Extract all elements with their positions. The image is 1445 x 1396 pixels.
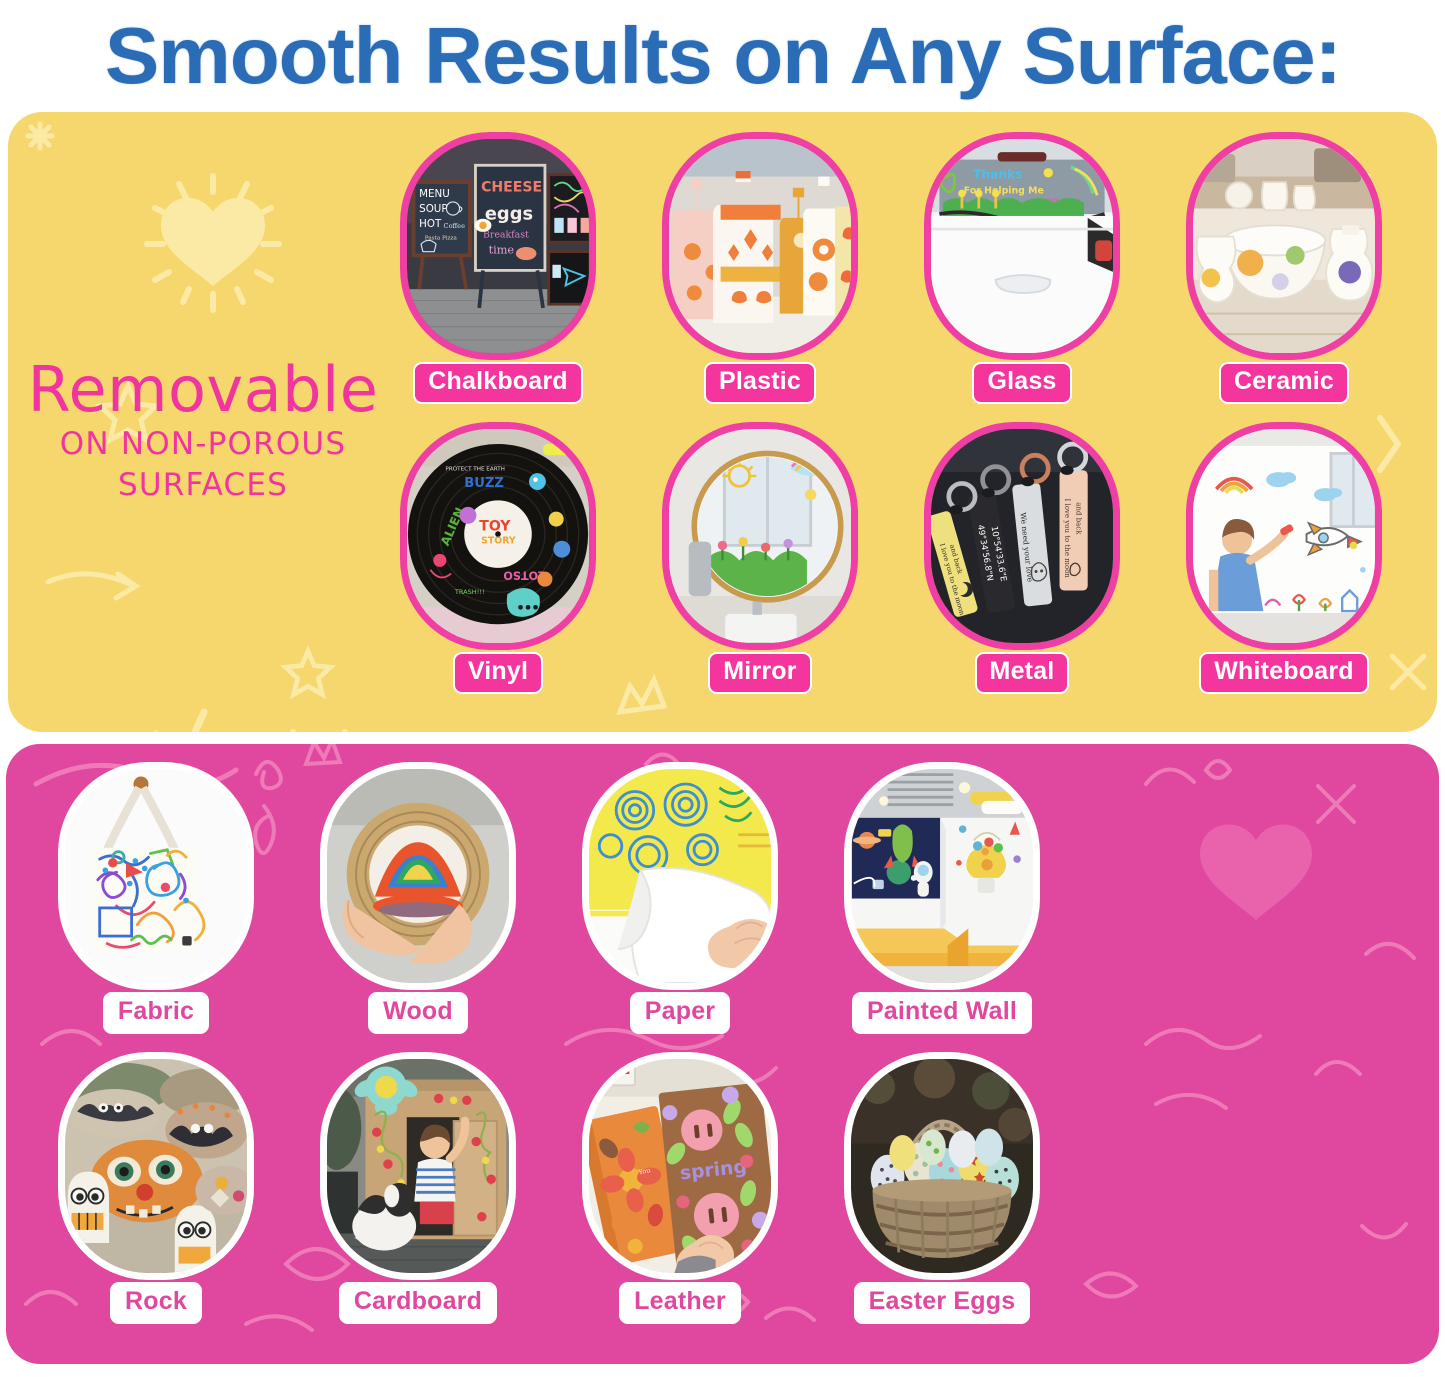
svg-text:Thanks: Thanks xyxy=(973,167,1022,181)
removable-heading-block: Removable ON NON-POROUS SURFACES xyxy=(8,358,398,503)
surface-label-eastereggs: Easter Eggs xyxy=(854,1282,1031,1324)
scene-glass: Thanks For Helping Me GROW xyxy=(931,139,1113,353)
removable-subheading-line1: ON NON-POROUS xyxy=(8,427,398,462)
svg-text:Breakfast: Breakfast xyxy=(483,230,529,241)
thumb-wrap-cardboard xyxy=(314,1046,522,1286)
svg-text:time: time xyxy=(489,244,515,257)
svg-text:MENU: MENU xyxy=(419,188,450,200)
thumb-fabric xyxy=(58,762,254,990)
thumb-leather: You spring xyxy=(582,1052,778,1280)
removable-grid: MENU SOUP HOT Coffee Pasta Pizza xyxy=(394,126,1388,704)
scene-paintedwall xyxy=(851,769,1033,983)
surface-card-ceramic[interactable]: Ceramic xyxy=(1180,126,1388,412)
thumb-cardboard xyxy=(320,1052,516,1280)
surface-label-fabric: Fabric xyxy=(103,992,209,1034)
thumb-wrap-rock xyxy=(52,1046,260,1286)
scene-mirror xyxy=(669,429,851,643)
surface-card-metal[interactable]: I love you to the moon and back 49°34'56… xyxy=(918,416,1126,702)
scene-whiteboard xyxy=(1193,429,1375,643)
surface-card-eastereggs[interactable]: Easter Eggs xyxy=(838,1046,1046,1332)
thumb-wrap-paintedwall xyxy=(838,756,1046,996)
surface-label-vinyl: Vinyl xyxy=(453,652,543,694)
surface-card-mirror[interactable]: Mirror xyxy=(656,416,864,702)
surface-card-leather[interactable]: You spring xyxy=(576,1046,784,1332)
thumb-chalkboard: MENU SOUP HOT Coffee Pasta Pizza xyxy=(400,132,596,360)
section-removable: Removable ON NON-POROUS SURFACES xyxy=(8,112,1437,732)
svg-text:BUZZ: BUZZ xyxy=(464,476,504,491)
surface-card-vinyl[interactable]: TOY STORY BUZZ ALIEN LOTSO TRASH!!! PROT… xyxy=(394,416,602,702)
thumb-wrap-wood xyxy=(314,756,522,996)
surface-card-paper[interactable]: Paper xyxy=(576,756,784,1042)
surface-label-wood: Wood xyxy=(368,992,468,1034)
surface-label-chalkboard: Chalkboard xyxy=(413,362,583,404)
surface-label-rock: Rock xyxy=(110,1282,202,1324)
thumb-eastereggs xyxy=(844,1052,1040,1280)
surface-label-ceramic: Ceramic xyxy=(1219,362,1349,404)
scene-fabric xyxy=(65,769,247,983)
surface-card-whiteboard[interactable]: Whiteboard xyxy=(1180,416,1388,702)
thumb-mirror xyxy=(662,422,858,650)
svg-text:TRASH!!!: TRASH!!! xyxy=(454,588,485,596)
thumb-glass: Thanks For Helping Me GROW xyxy=(924,132,1120,360)
scene-ceramic xyxy=(1193,139,1375,353)
surface-label-plastic: Plastic xyxy=(704,362,816,404)
thumb-wrap-vinyl: TOY STORY BUZZ ALIEN LOTSO TRASH!!! PROT… xyxy=(394,416,602,656)
scene-rock xyxy=(65,1059,247,1273)
surface-label-whiteboard: Whiteboard xyxy=(1199,652,1369,694)
svg-text:HOT: HOT xyxy=(419,218,442,230)
thumb-wrap-plastic xyxy=(656,126,864,366)
section-permanent: Permanent ON POROUS SURFACES xyxy=(6,744,1439,1364)
svg-text:SOUP: SOUP xyxy=(419,203,447,215)
surface-card-rock[interactable]: Rock xyxy=(52,1046,260,1332)
scene-wood xyxy=(327,769,509,983)
svg-text:TOY: TOY xyxy=(479,518,511,534)
surface-label-glass: Glass xyxy=(972,362,1071,404)
thumb-wrap-chalkboard: MENU SOUP HOT Coffee Pasta Pizza xyxy=(394,126,602,366)
scene-plastic xyxy=(669,139,851,353)
thumb-ceramic xyxy=(1186,132,1382,360)
thumb-wood xyxy=(320,762,516,990)
surface-card-fabric[interactable]: Fabric xyxy=(52,756,260,1042)
surface-label-metal: Metal xyxy=(975,652,1070,694)
thumb-vinyl: TOY STORY BUZZ ALIEN LOTSO TRASH!!! PROT… xyxy=(400,422,596,650)
thumb-wrap-mirror xyxy=(656,416,864,656)
removable-subheading-line2: SURFACES xyxy=(8,468,398,503)
surface-card-plastic[interactable]: Plastic xyxy=(656,126,864,412)
thumb-whiteboard xyxy=(1186,422,1382,650)
svg-text:PROTECT THE EARTH: PROTECT THE EARTH xyxy=(445,466,504,472)
surface-card-wood[interactable]: Wood xyxy=(314,756,522,1042)
surface-card-glass[interactable]: Thanks For Helping Me GROW xyxy=(918,126,1126,412)
scene-cardboard xyxy=(327,1059,509,1273)
thumb-wrap-whiteboard xyxy=(1180,416,1388,656)
thumb-wrap-fabric xyxy=(52,756,260,996)
thumb-paintedwall xyxy=(844,762,1040,990)
thumb-wrap-ceramic xyxy=(1180,126,1388,366)
surface-label-mirror: Mirror xyxy=(708,652,811,694)
surface-label-cardboard: Cardboard xyxy=(339,1282,497,1324)
thumb-wrap-paper xyxy=(576,756,784,996)
svg-text:STORY: STORY xyxy=(481,536,516,547)
surface-label-leather: Leather xyxy=(619,1282,741,1324)
thumb-wrap-glass: Thanks For Helping Me GROW xyxy=(918,126,1126,366)
surface-card-cardboard[interactable]: Cardboard xyxy=(314,1046,522,1332)
surface-card-chalkboard[interactable]: MENU SOUP HOT Coffee Pasta Pizza xyxy=(394,126,602,412)
thumb-paper xyxy=(582,762,778,990)
thumb-plastic xyxy=(662,132,858,360)
scene-leather: You spring xyxy=(589,1059,771,1273)
svg-text:and back: and back xyxy=(1074,502,1083,535)
page-title: Smooth Results on Any Surface: xyxy=(105,10,1341,102)
permanent-grid: Fabric xyxy=(52,756,1046,1334)
scene-eastereggs xyxy=(851,1059,1033,1273)
svg-text:Coffee: Coffee xyxy=(444,222,466,230)
scene-vinyl: TOY STORY BUZZ ALIEN LOTSO TRASH!!! PROT… xyxy=(407,429,589,643)
surface-label-paintedwall: Painted Wall xyxy=(852,992,1032,1034)
thumb-rock xyxy=(58,1052,254,1280)
thumb-wrap-metal: I love you to the moon and back 49°34'56… xyxy=(918,416,1126,656)
page-header: Smooth Results on Any Surface: xyxy=(0,0,1445,112)
svg-text:eggs: eggs xyxy=(485,204,533,225)
svg-text:CHEESE: CHEESE xyxy=(481,180,542,196)
scene-paper xyxy=(589,769,771,983)
thumb-wrap-leather: You spring xyxy=(576,1046,784,1286)
surface-card-paintedwall[interactable]: Painted Wall xyxy=(838,756,1046,1042)
thumb-metal: I love you to the moon and back 49°34'56… xyxy=(924,422,1120,650)
surface-label-paper: Paper xyxy=(630,992,730,1034)
removable-heading: Removable xyxy=(8,358,398,421)
scene-chalkboard: MENU SOUP HOT Coffee Pasta Pizza xyxy=(407,139,589,353)
thumb-wrap-eastereggs xyxy=(838,1046,1046,1286)
scene-metal: I love you to the moon and back 49°34'56… xyxy=(931,429,1113,643)
